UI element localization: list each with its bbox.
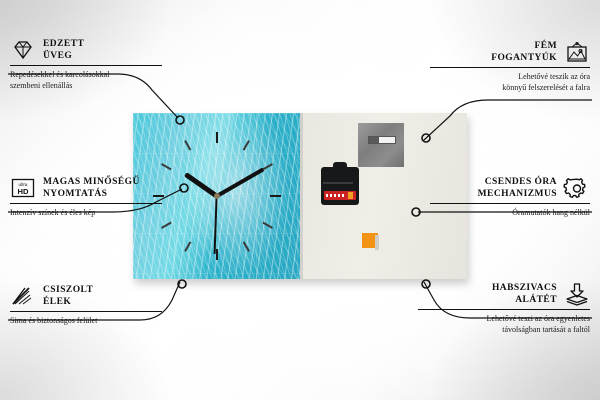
hanger-slot [368,136,396,144]
feature-title-line1: CSISZOLT [43,285,93,295]
picture-hanger-icon [564,40,590,64]
callout-metal-handles: FÉM FOGANTYÚK Lehetővé teszik az óra kön… [422,40,590,93]
svg-text:HD: HD [18,187,29,196]
callout-foam-pad: HABSZIVACS ALÁTÉT Lehetővé teszi az óra … [410,282,590,335]
ultra-hd-icon: ultra HD [10,176,36,200]
gear-icon [564,176,590,200]
feature-desc-line1: Lehetővé teszi az óra egyenletes [487,314,591,323]
feature-desc-line1: Intenzív színek és éles kép [10,208,95,217]
callout-high-quality-print: ultra HD MAGAS MINŐSÉGŰ NYOMTATÁS Intenz… [10,176,170,219]
feature-desc-line1: Lehetővé teszik az óra [518,72,590,81]
foam-pad [362,233,378,248]
infographic-stage: EDZETT ÜVEG Repedésekkel és karcolásokka… [0,0,600,400]
feature-title-line2: NYOMTATÁS [43,189,107,199]
hour-marker [216,196,218,260]
feature-title-line1: HABSZIVACS [492,283,557,293]
battery [324,191,356,200]
callout-tempered-glass: EDZETT ÜVEG Repedésekkel és karcolásokka… [10,38,170,91]
feature-title-line2: ÜVEG [43,51,72,61]
feature-title-line2: ALÁTÉT [515,295,557,305]
callout-silent-mechanism: CSENDES ÓRA MECHANIZMUS Óramutatók hang … [422,176,590,219]
mechanism-tab [333,162,347,169]
clock-mechanism [321,167,359,205]
feature-desc-line1: Sima és biztonságos felület [10,316,97,325]
product-image [133,113,467,279]
metal-hanger [358,123,404,167]
mechanism-seam [323,182,353,184]
feature-title-line1: FÉM [535,41,557,51]
polished-edges-icon [10,284,36,308]
feature-desc-line2: távolságban tartását a faltól [502,325,590,334]
callout-polished-edges: CSISZOLT ÉLEK Sima és biztonságos felüle… [10,284,170,327]
feature-desc-line1: Óramutatók hang nélkül [512,208,590,217]
feature-title-line1: EDZETT [43,39,84,49]
feature-title-line2: FOGANTYÚK [491,53,557,63]
feature-desc-line2: szembeni ellenállás [10,81,72,90]
hour-marker [217,195,281,197]
feature-title-line2: ÉLEK [43,297,71,307]
feature-title-line2: MECHANIZMUS [478,189,557,199]
panel-edge [300,113,303,279]
feature-desc-line1: Repedésekkel és karcolásokkal [10,70,110,79]
foam-pad-icon [564,282,590,306]
feature-desc-line2: könnyű felszerelését a falra [502,83,590,92]
feature-title-line1: MAGAS MINŐSÉGŰ [43,177,140,187]
hour-marker [216,132,218,196]
diamond-icon [10,38,36,62]
feature-title-line1: CSENDES ÓRA [485,177,557,187]
